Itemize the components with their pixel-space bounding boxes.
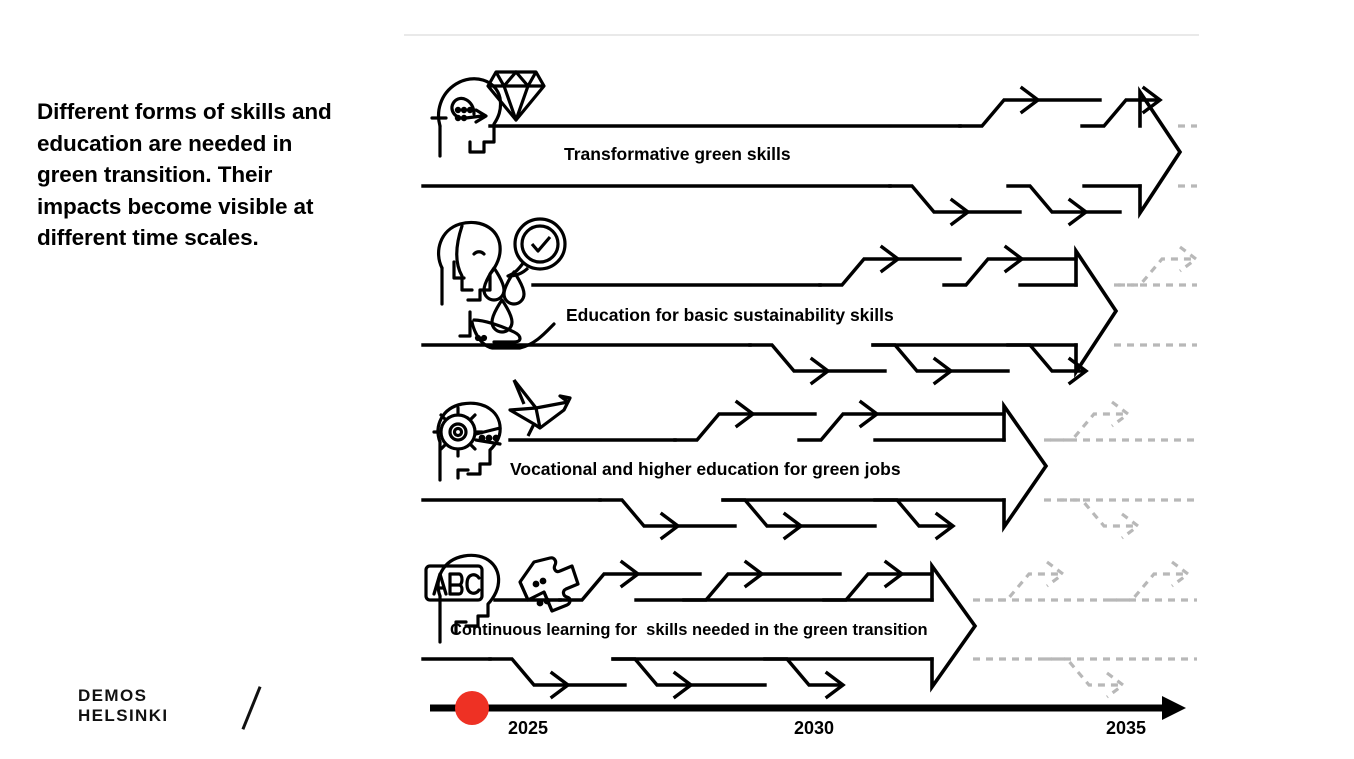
logo-line-helsinki: HELSINKI (78, 706, 248, 726)
axis-tick-2035: 2035 (1106, 718, 1146, 739)
row-label-basic-sustainability: Education for basic sustainability skill… (566, 305, 894, 326)
check-bubble-icon (508, 219, 565, 276)
head-spiral-icon (432, 79, 501, 156)
axis-tick-2025: 2025 (508, 718, 548, 739)
page-title: Different forms of skills and education … (37, 96, 349, 254)
head-gear-icon (434, 403, 500, 480)
water-drop-icon (492, 272, 524, 332)
row-label-continuous-learning: Continuous learning for skills needed in… (450, 621, 928, 640)
hand-icon (460, 312, 554, 348)
diamond-icon (488, 72, 544, 120)
axis-tick-2030: 2030 (794, 718, 834, 739)
puzzle-icon (520, 558, 578, 611)
row2-ghost-step (1118, 247, 1196, 285)
origami-bird-icon (510, 380, 570, 436)
today-marker (455, 691, 489, 725)
slide-canvas: Different forms of skills and education … (0, 0, 1354, 759)
demos-helsinki-logo: DEMOS HELSINKI (78, 686, 248, 732)
arrow-row-transformative (423, 88, 1197, 224)
logo-line-demos: DEMOS (78, 686, 248, 706)
row-label-vocational: Vocational and higher education for gree… (510, 459, 901, 480)
head-check-bubble-icon (439, 222, 504, 304)
row-label-transformative: Transformative green skills (564, 144, 791, 165)
